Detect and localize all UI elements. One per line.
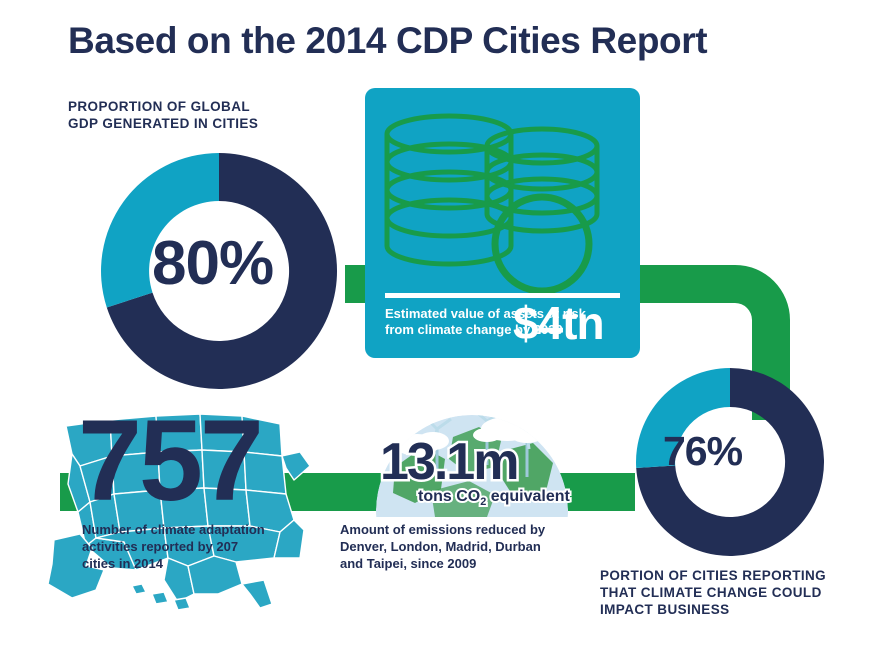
gdp-heading-line-1: PROPORTION OF GLOBAL [68, 98, 328, 115]
adaptation-value: 757 [78, 404, 261, 519]
page-title: Based on the 2014 CDP Cities Report [68, 20, 707, 62]
gdp-donut-value: 80% [152, 228, 273, 299]
adaptation-caption-line-2: activities reported by 207 [82, 538, 322, 555]
emissions-caption-line-1: Amount of emissions reduced by [340, 521, 590, 538]
gdp-donut-heading: PROPORTION OF GLOBAL GDP GENERATED IN CI… [68, 98, 328, 132]
adaptation-caption-line-3: cities in 2014 [82, 555, 322, 572]
assets-card-caption: Estimated value of assets at risk from c… [385, 306, 630, 338]
emissions-caption-line-2: Denver, London, Madrid, Durban [340, 538, 590, 555]
coin-stack-icon [377, 104, 627, 294]
emissions-unit-prefix: tons CO [418, 488, 480, 505]
adaptation-caption-line-1: Number of climate adaptation [82, 521, 322, 538]
emissions-unit: tons CO2 equivalent [418, 488, 570, 508]
business-caption-line-2: THAT CLIMATE CHANGE COULD [600, 584, 850, 601]
emissions-caption: Amount of emissions reduced by Denver, L… [340, 521, 590, 572]
assets-at-risk-card: $4tn Estimated value of assets at risk f… [365, 88, 640, 358]
business-donut-value: 76% [663, 428, 742, 475]
emissions-unit-suffix: equivalent [486, 488, 570, 505]
emissions-value: 13.1m [380, 432, 517, 492]
business-caption-line-1: PORTION OF CITIES REPORTING [600, 567, 850, 584]
business-caption-line-3: IMPACT BUSINESS [600, 601, 850, 618]
infographic-canvas: Based on the 2014 CDP Cities Report PROP… [0, 0, 890, 648]
emissions-caption-line-3: and Taipei, since 2009 [340, 555, 590, 572]
assets-caption-line-2: from climate change by 2030 [385, 322, 630, 338]
card-divider [385, 293, 620, 298]
gdp-heading-line-2: GDP GENERATED IN CITIES [68, 115, 328, 132]
assets-caption-line-1: Estimated value of assets at risk [385, 306, 630, 322]
adaptation-caption: Number of climate adaptation activities … [82, 521, 322, 572]
business-donut-caption: PORTION OF CITIES REPORTING THAT CLIMATE… [600, 567, 850, 618]
